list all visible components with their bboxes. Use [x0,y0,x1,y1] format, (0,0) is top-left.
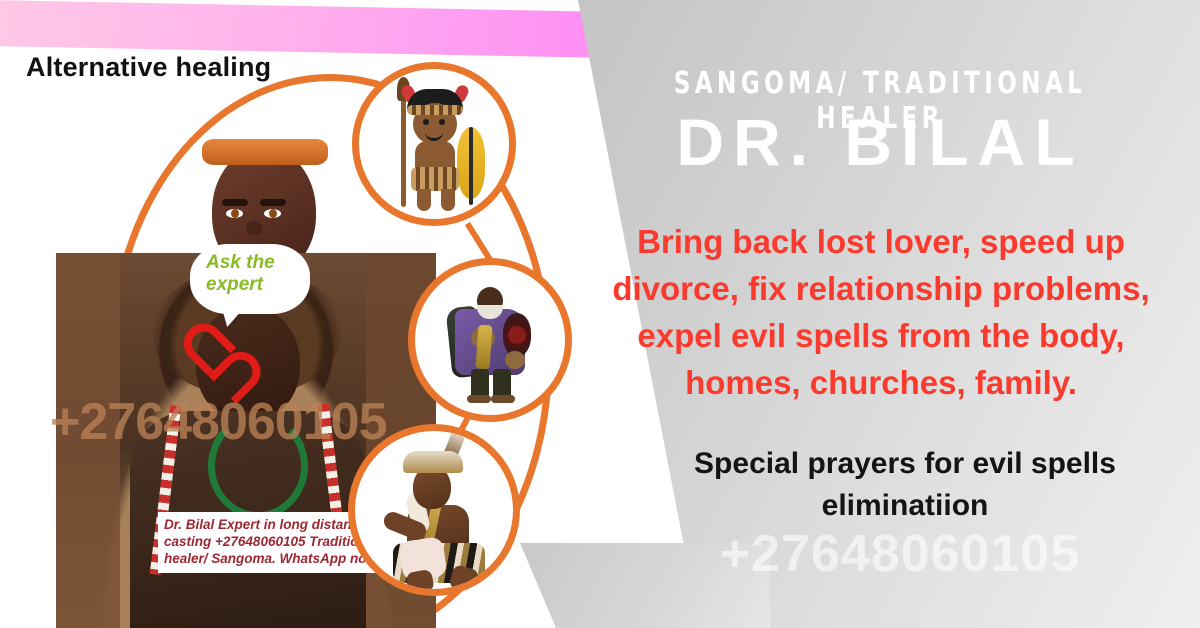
right-column: SANGOMA/ TRADITIONAL HEALER DR. BILAL Br… [560,0,1200,628]
watermark-phone-number: +27648060105 [600,524,1200,584]
figure-satchel [505,351,525,369]
portrait-nose [246,221,262,235]
heart-icon [186,330,230,374]
warrior-eye [439,119,445,125]
services-line: homes, churches, family. [566,359,1196,406]
services-line: Bring back lost lover, speed up [566,218,1196,265]
warrior-leg [417,189,431,211]
warrior-leg [441,189,455,211]
figure-shoe [467,395,491,403]
circle-image-zulu-warrior [352,62,516,226]
poster-canvas: Alternative healing [0,0,1200,628]
warrior-skirt [411,167,459,191]
special-line: eliminatiion [610,485,1200,527]
speech-bubble-text: Ask the expert [206,252,306,296]
services-line: expel evil spells from the body, [566,312,1196,359]
dancer-leg [405,569,434,595]
special-prayers-text: Special prayers for evil spells eliminat… [610,443,1200,527]
dancer-crown [403,451,463,473]
portrait-eye [226,209,243,218]
page-title: Alternative healing [26,52,271,83]
spear-icon [401,83,406,207]
warrior-headband [407,105,463,115]
portrait-eye [264,209,281,218]
portrait-eyebrow [222,199,248,206]
services-text: Bring back lost lover, speed up divorce,… [566,218,1196,406]
left-column: Alternative healing [0,0,580,628]
portrait-headband [202,139,328,165]
services-line: divorce, fix relationship problems, [566,265,1196,312]
warrior-eye [423,119,429,125]
special-line: Special prayers for evil spells [610,443,1200,485]
healer-name-title: DR. BILAL [570,106,1190,178]
circle-image-crouching-dancer [348,424,520,596]
shield-spine [469,127,473,205]
figure-shoe [491,395,515,403]
circle-image-cloaked-healer [408,258,572,422]
portrait-eyebrow [260,199,286,206]
